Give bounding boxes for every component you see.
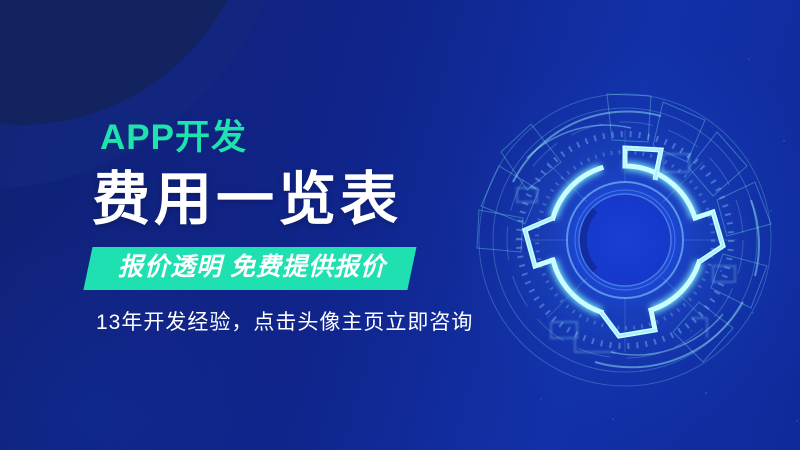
promo-badge-label: 报价透明 免费提供报价 (118, 254, 386, 282)
page-title: 费用一览表 (92, 171, 492, 229)
call-to-action-text: 13年开发经验，点击头像主页立即咨询 (96, 312, 492, 333)
eyebrow-text: APP开发 (100, 120, 492, 155)
headline-block: APP开发 费用一览表 报价透明 免费提供报价 13年开发经验，点击头像主页立即… (92, 120, 492, 333)
poster-canvas: APP开发 费用一览表 报价透明 免费提供报价 13年开发经验，点击头像主页立即… (0, 0, 800, 450)
tech-circle-icon (455, 70, 795, 410)
promo-badge: 报价透明 免费提供报价 (83, 247, 416, 290)
